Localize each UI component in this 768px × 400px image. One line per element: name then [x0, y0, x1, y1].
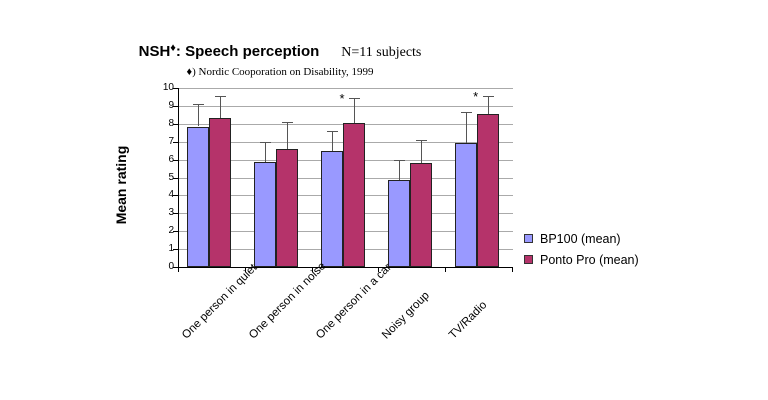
y-axis-tick-label: 5	[152, 173, 174, 183]
chart-title-text: NSH	[139, 43, 171, 60]
error-bar-cap	[282, 122, 293, 123]
error-bar	[265, 142, 266, 163]
error-bar	[287, 122, 288, 149]
plot-area: **	[178, 88, 513, 268]
x-axis-category-label: One person in quiet	[180, 262, 259, 341]
chart-title: NSH♦: Speech perceptionN=11 subjects	[0, 42, 560, 61]
x-axis-category-label: Noisy group	[380, 290, 432, 342]
bar	[343, 123, 365, 267]
y-axis-tick-label: 9	[152, 101, 174, 111]
error-bar-cap	[349, 98, 360, 99]
error-bar	[399, 160, 400, 181]
x-axis-tick-mark	[445, 267, 446, 272]
bar	[410, 163, 432, 267]
y-axis-tick-label: 8	[152, 119, 174, 129]
x-axis-tick-mark	[512, 267, 513, 272]
bar	[477, 114, 499, 267]
legend-label: BP100 (mean)	[540, 232, 621, 246]
error-bar	[466, 112, 467, 142]
y-axis-tick-label: 10	[152, 83, 174, 93]
y-axis-tick-label: 0	[152, 262, 174, 272]
significance-marker: *	[336, 94, 348, 104]
bar	[254, 162, 276, 267]
subject-count-note: N=11 subjects	[341, 45, 421, 60]
error-bar-cap	[327, 131, 338, 132]
legend-item[interactable]: Ponto Pro (mean)	[524, 249, 704, 270]
y-axis-tick-labels: 012345678910	[148, 88, 174, 267]
error-bar-cap	[215, 96, 226, 97]
error-bar-cap	[260, 142, 271, 143]
legend-label: Ponto Pro (mean)	[540, 253, 639, 267]
chart-legend: BP100 (mean)Ponto Pro (mean)	[524, 228, 704, 270]
x-axis-category-label: One person in a car	[314, 262, 394, 342]
chart-subtitle: ♦) Nordic Cooporation on Disability, 199…	[0, 66, 560, 78]
gridline	[179, 88, 513, 89]
speech-perception-chart: NSH♦: Speech perceptionN=11 subjects ♦) …	[0, 0, 768, 400]
y-axis-tick-label: 2	[152, 226, 174, 236]
error-bar	[354, 98, 355, 123]
x-axis-tick-mark	[178, 267, 179, 272]
legend-swatch	[524, 234, 533, 243]
bar	[388, 180, 410, 267]
y-axis-tick-label: 1	[152, 244, 174, 254]
error-bar-cap	[461, 112, 472, 113]
error-bar-cap	[416, 140, 427, 141]
bar	[276, 149, 298, 267]
error-bar	[488, 96, 489, 114]
y-axis-tick-label: 3	[152, 208, 174, 218]
error-bar-cap	[193, 104, 204, 105]
significance-marker: *	[470, 92, 482, 102]
chart-title-suffix: : Speech perception	[176, 43, 319, 60]
bar	[187, 127, 209, 268]
error-bar	[421, 140, 422, 163]
legend-item[interactable]: BP100 (mean)	[524, 228, 704, 249]
error-bar-cap	[483, 96, 494, 97]
error-bar-cap	[394, 160, 405, 161]
error-bar	[332, 131, 333, 151]
y-axis-tick-label: 6	[152, 155, 174, 165]
bar	[209, 118, 231, 267]
y-axis-tick-label: 4	[152, 190, 174, 200]
gridline	[179, 106, 513, 107]
x-axis-category-label: TV/Radio	[447, 299, 489, 341]
bar	[321, 151, 343, 267]
bar	[455, 143, 477, 267]
error-bar	[198, 104, 199, 126]
y-axis-title: Mean rating	[113, 120, 133, 250]
legend-swatch	[524, 255, 533, 264]
error-bar	[220, 96, 221, 118]
y-axis-tick-label: 7	[152, 137, 174, 147]
